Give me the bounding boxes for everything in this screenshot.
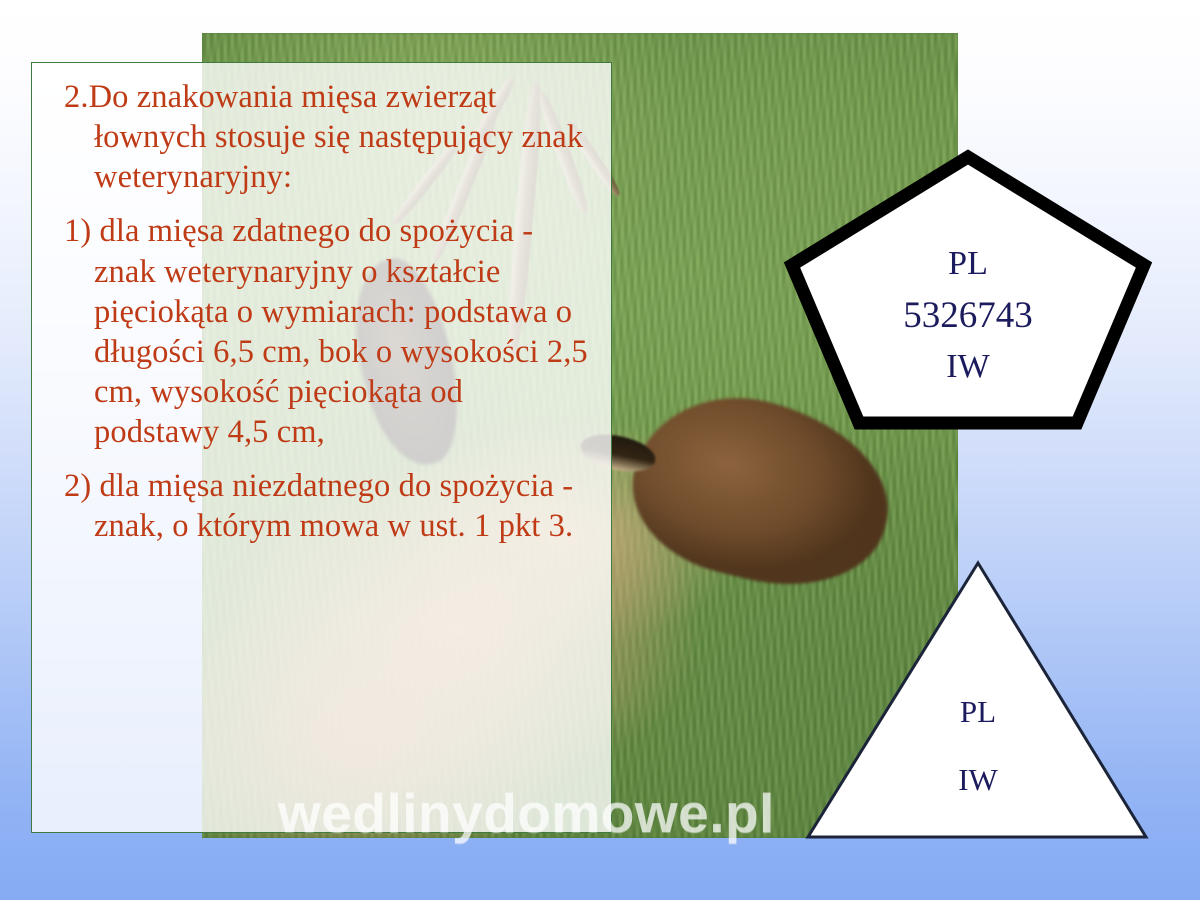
paragraph-item-2: 2) dla mięsa niezdatnego do spożycia - z…	[46, 466, 593, 546]
triangle-shape: PL IW	[802, 554, 1152, 844]
paragraph-item-1: 1) dla mięsa zdatnego do spożycia - znak…	[46, 211, 593, 452]
pentagon-line-3: IW	[946, 348, 990, 385]
triangle-line-2: IW	[958, 762, 998, 797]
pentagon-line-1: PL	[948, 245, 988, 282]
pentagon-veterinary-stamp: PL 5326743 IW	[782, 147, 1154, 437]
pentagon-shape: PL 5326743 IW	[782, 147, 1154, 437]
slide-canvas: 2.Do znakowania mięsa zwierząt łownych s…	[0, 0, 1200, 900]
pentagon-line-2: 5326743	[903, 295, 1033, 336]
triangle-line-1: PL	[960, 694, 996, 729]
text-panel: 2.Do znakowania mięsa zwierząt łownych s…	[31, 62, 612, 833]
paragraph-intro: 2.Do znakowania mięsa zwierząt łownych s…	[46, 77, 593, 197]
triangle-veterinary-stamp: PL IW	[802, 554, 1152, 844]
